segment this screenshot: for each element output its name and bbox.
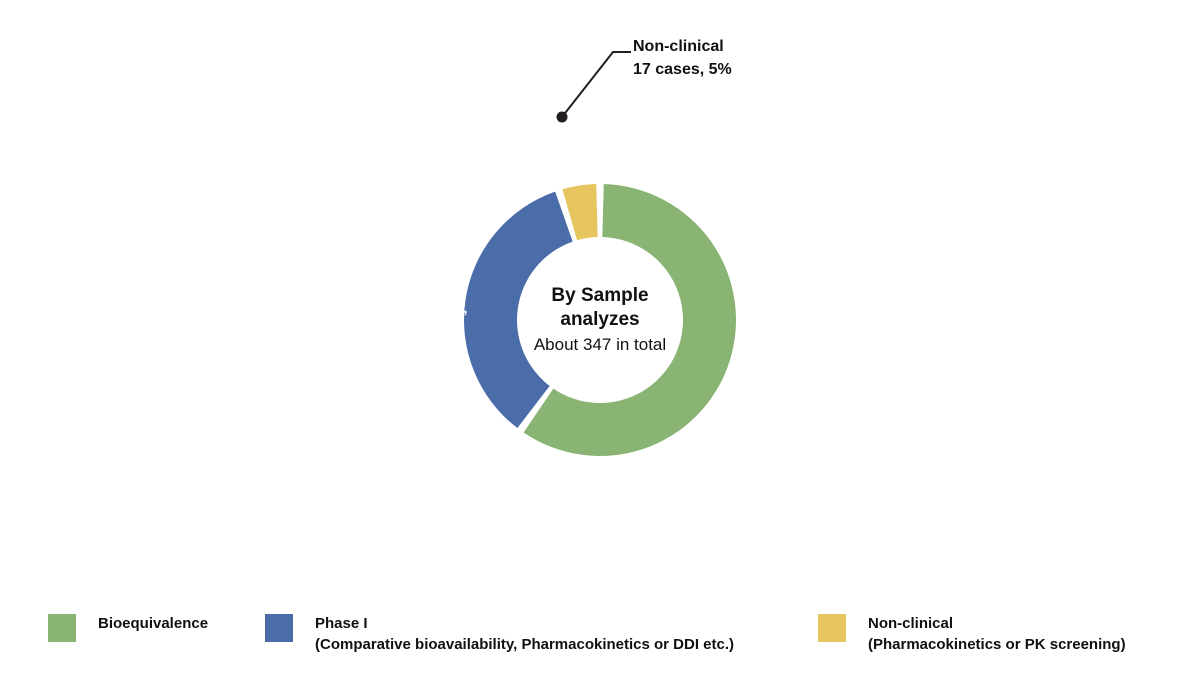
chart-legend: Bioequivalence Phase I (Comparative bioa… xyxy=(0,605,1200,675)
legend-name-non-clinical: Non-clinical xyxy=(868,613,1126,634)
legend-name-phase-i: Phase I xyxy=(315,613,734,634)
callout-label-line1: Non-clinical xyxy=(633,38,724,55)
callout-label-line2: 17 cases, 5% xyxy=(633,61,732,78)
donut-chart-svg: By Sample analyzes About 347 in total Bi… xyxy=(0,0,1200,700)
center-total-text: About 347 in total xyxy=(534,335,666,354)
blue-slice-label-line3: 35% xyxy=(415,320,445,337)
blue-slice-label-line1: Phase I xyxy=(404,280,457,297)
center-label-group: By Sample analyzes About 347 in total xyxy=(534,285,666,354)
blue-slice-label: Phase I 122 cases, 35% xyxy=(392,280,467,337)
legend-name-bioequivalence: Bioequivalence xyxy=(98,613,208,634)
green-slice-label: Bioequivalence 208 cases, 60% xyxy=(613,452,723,509)
legend-desc-phase-i: (Comparative bioavailability, Pharmacoki… xyxy=(315,634,734,655)
legend-desc-non-clinical: (Pharmacokinetics or PK screening) xyxy=(868,634,1126,655)
callout-anchor-dot xyxy=(557,112,568,123)
green-slice-label-line2: 208 cases, xyxy=(630,472,705,489)
legend-text-phase-i: Phase I (Comparative bioavailability, Ph… xyxy=(315,613,734,655)
legend-text-bioequivalence: Bioequivalence xyxy=(98,613,208,634)
legend-swatch-non-clinical xyxy=(818,614,846,642)
legend-item-bioequivalence[interactable]: Bioequivalence xyxy=(48,613,208,642)
green-slice-label-line1: Bioequivalence xyxy=(613,452,723,469)
legend-item-non-clinical[interactable]: Non-clinical (Pharmacokinetics or PK scr… xyxy=(818,613,1126,655)
non-clinical-callout: Non-clinical 17 cases, 5% xyxy=(557,38,732,123)
legend-item-phase-i[interactable]: Phase I (Comparative bioavailability, Ph… xyxy=(265,613,734,655)
green-slice-label-line3: 60% xyxy=(653,492,683,509)
legend-swatch-bioequivalence xyxy=(48,614,76,642)
legend-swatch-phase-i xyxy=(265,614,293,642)
center-title-line1: By Sample xyxy=(551,285,648,306)
center-title-line2: analyzes xyxy=(560,309,639,330)
legend-text-non-clinical: Non-clinical (Pharmacokinetics or PK scr… xyxy=(868,613,1126,655)
callout-leader-line xyxy=(562,52,631,117)
donut-chart-figure: By Sample analyzes About 347 in total Bi… xyxy=(0,0,1200,700)
blue-slice-label-line2: 122 cases, xyxy=(392,300,467,317)
